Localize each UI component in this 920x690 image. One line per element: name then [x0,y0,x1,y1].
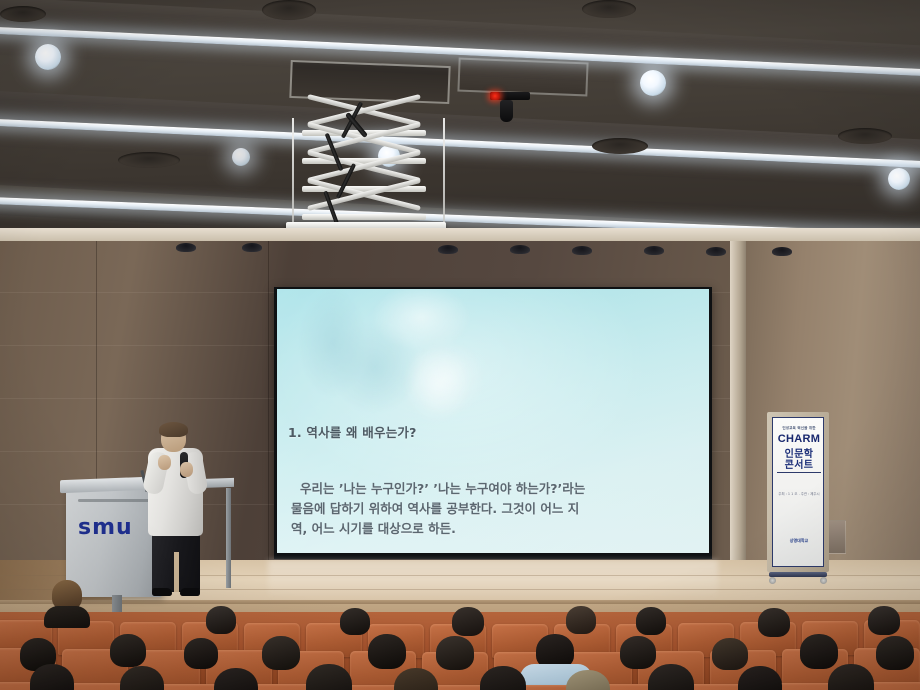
slide-body-line-3: 역, 어느 시기를 대상으로 하든. [291,519,665,539]
event-banner: 인성교육 혁신을 위한 CHARM 인문학 콘서트 주최 : 1 1 오 . 주… [767,412,829,585]
ceiling-vent [0,6,46,22]
wall-spotlight [644,246,664,255]
ceiling-recess-panel [457,58,588,97]
stage-floor-reflection [268,560,718,600]
banner-title-line-2: 콘서트 [773,456,825,471]
slide-body: 우리는 ’나는 누구인가?’ ’나는 누구여야 하는가?’라는 물음에 답하기 … [291,479,665,539]
banner-org-logo: 상명대학교 [773,538,825,544]
wall-spotlight [438,245,458,254]
audience-head [206,606,236,634]
audience-head [306,664,352,690]
ceiling-vent [582,0,636,18]
banner-wheel [769,577,776,584]
wall-vertical-seam [268,241,269,571]
audience-head [876,636,914,670]
banner-wheel [820,577,827,584]
slide-title: 1. 역사를 왜 배우는가? [288,422,417,441]
banner-brand: CHARM [773,433,825,445]
audience-head [262,636,300,670]
audience-head [368,634,406,669]
audience-head [340,608,370,635]
lift-rung [302,214,426,220]
side-table-leg [226,488,231,588]
projector-lift [296,104,436,232]
banner-base [769,572,827,577]
ceiling-vent [118,152,180,168]
audience-head [620,636,656,669]
wall-column [730,241,746,571]
audience-head [712,638,748,670]
audience-head [184,638,218,669]
audience-head [868,606,900,635]
slide-body-line-2: 물음에 답하기 위하여 역사를 공부한다. 그것이 어느 지 [291,499,665,519]
audience-head [566,606,596,634]
lift-hanger-rod [443,118,445,226]
ceiling-vent [592,138,648,154]
audience-seating [0,612,920,690]
banner-subtext: 주최 : 1 1 오 . 주관 : 제주시 [773,492,825,497]
ceiling-spot-lamp [232,148,250,166]
ceiling-camera [500,100,513,122]
audience-head [636,607,666,635]
podium-panel-slot [78,499,150,502]
ceiling-vent [838,128,892,144]
podium-logo: smu [78,515,133,540]
ceiling [0,0,920,232]
banner-face: 인성교육 혁신을 위한 CHARM 인문학 콘서트 주최 : 1 1 오 . 주… [772,417,824,567]
speaker-hair [159,422,188,437]
speaker-shoe-left [152,588,172,596]
camera-led-indicator [490,92,500,100]
ceiling-spot-lamp [640,70,666,96]
wall-spotlight [176,243,196,252]
banner-divider [777,472,821,473]
audience-head [758,608,790,637]
lift-hanger-rod [292,118,294,226]
audience-shoulders [44,606,90,628]
projection-screen: 1. 역사를 왜 배우는가? 우리는 ’나는 누구인가?’ ’나는 누구여야 하… [277,289,709,553]
ceiling-spot-lamp [888,168,910,190]
audience-head [436,636,474,670]
ceiling-vent [262,0,316,20]
audience-head [452,607,484,636]
slide-body-line-1: 우리는 ’나는 누구인가?’ ’나는 누구여야 하는가?’라는 [291,479,665,499]
wall-top-trim [0,228,920,242]
podium-leg [112,595,122,613]
wall-spotlight [706,247,726,256]
speaker-hand-left [158,455,171,470]
speaker-leg-gap [174,552,179,592]
audience-head [800,634,838,669]
ceiling-spot-lamp [35,44,61,70]
speaker-hand-right [180,462,193,477]
speaker-shoe-right [180,588,200,596]
wall-spotlight [242,243,262,252]
audience-head [110,634,146,667]
wall-spotlight [572,246,592,255]
wall-spotlight [772,247,792,256]
projector-cable [325,133,344,172]
wall-spotlight [510,245,530,254]
banner-tagline: 인성교육 혁신을 위한 [773,426,825,431]
lecture-hall-photo: 1. 역사를 왜 배우는가? 우리는 ’나는 누구인가?’ ’나는 누구여야 하… [0,0,920,690]
